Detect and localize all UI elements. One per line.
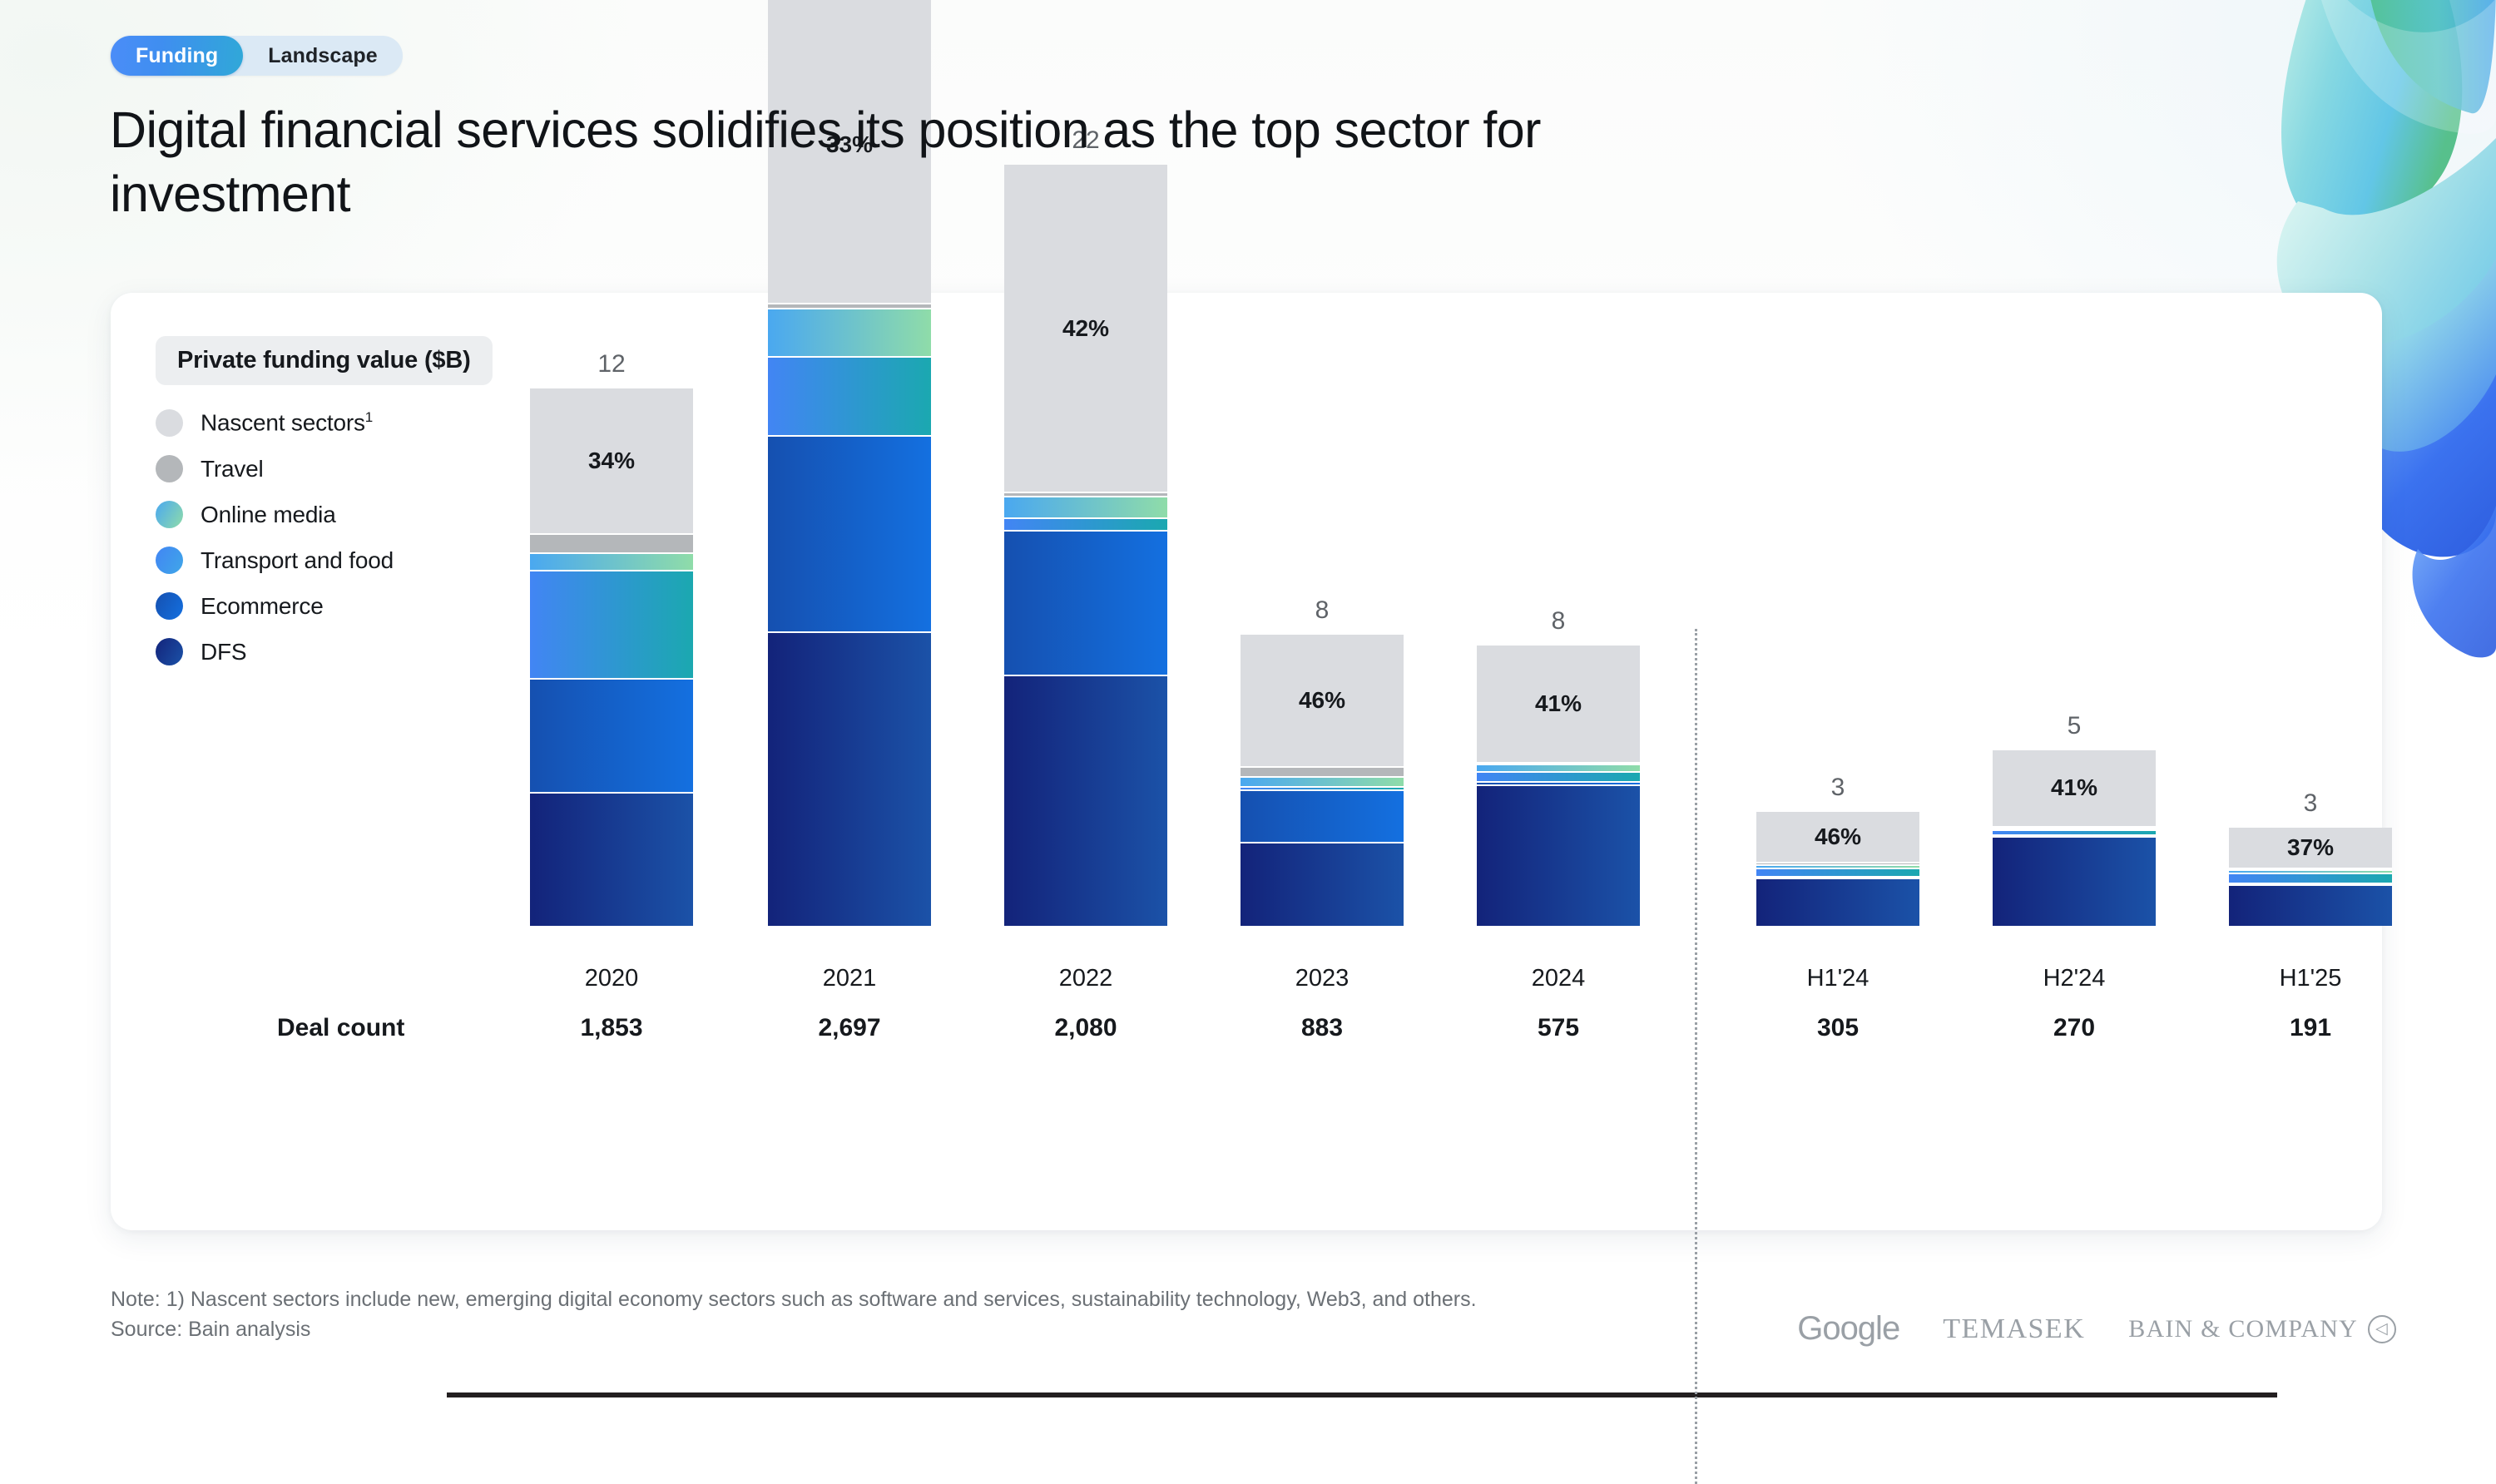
deal-count-row-label: Deal count xyxy=(277,1014,404,1042)
bar-segment-nascent[interactable]: 41% xyxy=(1993,750,2156,826)
temasek-logo: TEMASEK xyxy=(1943,1313,2085,1345)
bar-segment-transport[interactable] xyxy=(530,570,693,678)
bar-total-label: 8 xyxy=(1241,596,1404,625)
tab-funding[interactable]: Funding xyxy=(111,36,243,76)
bar-segment-online[interactable] xyxy=(530,552,693,570)
bar-segment-transport[interactable] xyxy=(768,356,931,435)
x-axis-label: H1'25 xyxy=(2196,965,2425,992)
bar-segment-dfs[interactable] xyxy=(530,792,693,926)
stacked-bar[interactable]: 41% xyxy=(1993,750,2156,926)
bar-segment-ecommerce[interactable] xyxy=(1004,530,1167,675)
bar-group-h224[interactable]: 41%5H2'24270 xyxy=(1993,0,2156,1230)
x-axis-label: 2021 xyxy=(735,965,964,992)
bain-mark-icon: ◁ xyxy=(2368,1315,2396,1343)
bar-total-label: 12 xyxy=(530,350,693,378)
bar-segment-dfs[interactable] xyxy=(2229,884,2392,926)
x-axis-label: 2020 xyxy=(497,965,726,992)
deal-count-value: 883 xyxy=(1207,1014,1437,1042)
x-axis-line xyxy=(447,1392,2277,1397)
footnote-line-1: Note: 1) Nascent sectors include new, em… xyxy=(111,1285,1477,1315)
bar-segment-online[interactable] xyxy=(1241,776,1404,786)
bar-total-label: 3 xyxy=(2229,789,2392,818)
x-axis-label: H2'24 xyxy=(1959,965,2189,992)
chart-card: Private funding value ($B) Nascent secto… xyxy=(111,293,2382,1230)
bar-group-h124[interactable]: 46%3H1'24305 xyxy=(1756,0,1919,1230)
bar-segment-nascent[interactable]: 37% xyxy=(2229,828,2392,868)
stacked-bar[interactable]: 41% xyxy=(1477,646,1640,926)
stacked-bar[interactable]: 46% xyxy=(1756,812,1919,926)
bar-segment-transport[interactable] xyxy=(1756,868,1919,876)
x-axis-label: 2023 xyxy=(1207,965,1437,992)
bar-segment-transport[interactable] xyxy=(1004,517,1167,529)
bar-segment-transport[interactable] xyxy=(2229,873,2392,883)
bar-segment-nascent[interactable]: 46% xyxy=(1241,635,1404,765)
bar-segment-ecommerce[interactable] xyxy=(1241,789,1404,841)
nascent-share-label: 41% xyxy=(1993,774,2156,801)
bar-segment-transport[interactable] xyxy=(1477,771,1640,781)
bar-segment-travel[interactable] xyxy=(1241,766,1404,776)
bar-segment-online[interactable] xyxy=(768,308,931,356)
period-divider xyxy=(1695,629,1697,1484)
deal-count-value: 1,853 xyxy=(497,1014,726,1042)
bar-segment-ecommerce[interactable] xyxy=(530,678,693,792)
bar-segment-dfs[interactable] xyxy=(768,631,931,926)
nascent-share-label: 46% xyxy=(1241,687,1404,714)
bar-segment-nascent[interactable]: 41% xyxy=(1477,646,1640,763)
nascent-share-label: 42% xyxy=(1004,315,1167,342)
footnote-line-2: Source: Bain analysis xyxy=(111,1315,1477,1345)
stacked-bar[interactable]: 46% xyxy=(1241,635,1404,926)
tab-landscape[interactable]: Landscape xyxy=(243,36,403,76)
deal-count-value: 2,697 xyxy=(735,1014,964,1042)
bar-segment-nascent[interactable]: 46% xyxy=(1756,812,1919,862)
stacked-bar[interactable]: 42% xyxy=(1004,165,1167,926)
google-logo: Google xyxy=(1797,1310,1899,1348)
bar-total-label: 3 xyxy=(1756,774,1919,802)
x-axis-label: H1'24 xyxy=(1723,965,1953,992)
stacked-bar[interactable]: 34% xyxy=(530,388,693,926)
x-axis-label: 2024 xyxy=(1444,965,1673,992)
bar-segment-dfs[interactable] xyxy=(1004,675,1167,926)
nascent-share-label: 34% xyxy=(530,448,693,474)
page-title: Digital financial services solidifies it… xyxy=(110,98,1691,226)
x-axis-label: 2022 xyxy=(971,965,1201,992)
deal-count-value: 305 xyxy=(1723,1014,1953,1042)
bar-segment-dfs[interactable] xyxy=(1756,878,1919,926)
bar-segment-nascent[interactable]: 34% xyxy=(530,388,693,533)
deal-count-value: 270 xyxy=(1959,1014,2189,1042)
bar-segment-ecommerce[interactable] xyxy=(768,435,931,631)
nascent-share-label: 41% xyxy=(1477,690,1640,717)
bain-logo: BAIN & COMPANY ◁ xyxy=(2128,1315,2396,1343)
deal-count-value: 2,080 xyxy=(971,1014,1201,1042)
plot-area: Deal count 34%1220201,85333%2720212,6974… xyxy=(111,293,2382,1230)
bar-group-h125[interactable]: 37%3H1'25191 xyxy=(2229,0,2392,1230)
stacked-bar[interactable]: 37% xyxy=(2229,828,2392,926)
bar-segment-online[interactable] xyxy=(1477,764,1640,770)
nascent-share-label: 37% xyxy=(2229,834,2392,861)
nascent-share-label: 46% xyxy=(1756,824,1919,850)
bar-segment-online[interactable] xyxy=(1004,496,1167,518)
bar-total-label: 5 xyxy=(1993,712,2156,740)
bar-total-label: 8 xyxy=(1477,607,1640,636)
bar-segment-dfs[interactable] xyxy=(1993,836,2156,926)
footnote: Note: 1) Nascent sectors include new, em… xyxy=(111,1285,1477,1344)
logo-bar: Google TEMASEK BAIN & COMPANY ◁ xyxy=(1797,1310,2396,1348)
deal-count-value: 191 xyxy=(2196,1014,2425,1042)
deal-count-value: 575 xyxy=(1444,1014,1673,1042)
bar-segment-travel[interactable] xyxy=(530,533,693,552)
bar-segment-dfs[interactable] xyxy=(1477,784,1640,926)
bain-wordmark: BAIN & COMPANY xyxy=(2128,1315,2358,1343)
bar-segment-dfs[interactable] xyxy=(1241,842,1404,926)
tab-bar[interactable]: Funding Landscape xyxy=(111,36,403,76)
